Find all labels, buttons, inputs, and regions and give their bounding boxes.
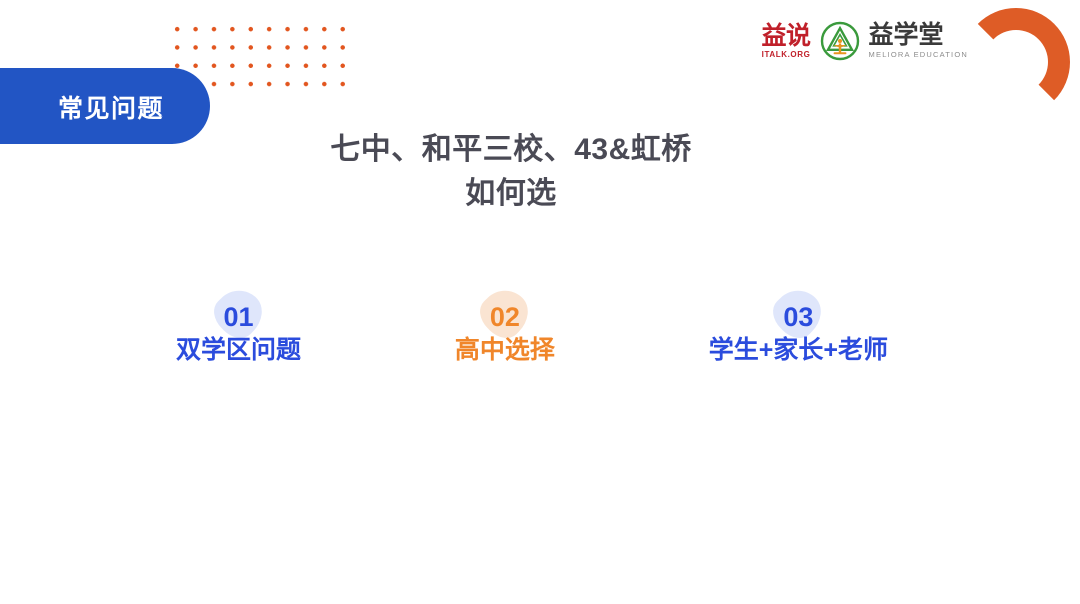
agenda-point-number-01: 01 [223,304,253,331]
agenda-points-row: 01 双学区问题 02 高中选择 03 学生+家长+老师 [176,290,888,400]
meliora-logo-mark: 益学堂 [869,23,968,48]
slide-title: 七中、和平三校、43&虹桥 如何选 [0,128,1022,216]
agenda-point-03[interactable]: 03 学生+家长+老师 [709,290,888,365]
agenda-point-02[interactable]: 02 高中选择 [455,290,555,365]
italk-logo-mark: 益说 [762,24,811,49]
agenda-point-01[interactable]: 01 双学区问题 [176,290,301,365]
agenda-point-number-02: 02 [490,304,520,331]
italk-logo: 益说 ITALK.ORG [762,24,811,59]
agenda-point-number-03: 03 [783,304,813,331]
agenda-point-label-01: 双学区问题 [176,337,301,365]
agenda-point-label-03: 学生+家长+老师 [709,337,888,365]
meliora-logo: 益学堂 MELIORA EDUCATION [869,23,968,59]
meliora-emblem-icon [820,21,860,61]
italk-logo-sub: ITALK.ORG [762,51,811,59]
agenda-point-label-02: 高中选择 [455,337,555,365]
slide-canvas: 常见问题 益说 ITALK.ORG 益学堂 MELIORA EDUCATION … [0,0,1080,604]
meliora-logo-sub: MELIORA EDUCATION [869,51,968,59]
brand-logo-lockup: 益说 ITALK.ORG 益学堂 MELIORA EDUCATION [762,17,968,65]
slide-title-line-1: 七中、和平三校、43&虹桥 [0,128,1022,172]
slide-title-line-2: 如何选 [0,172,1022,216]
corner-arc-decoration [962,8,1070,116]
